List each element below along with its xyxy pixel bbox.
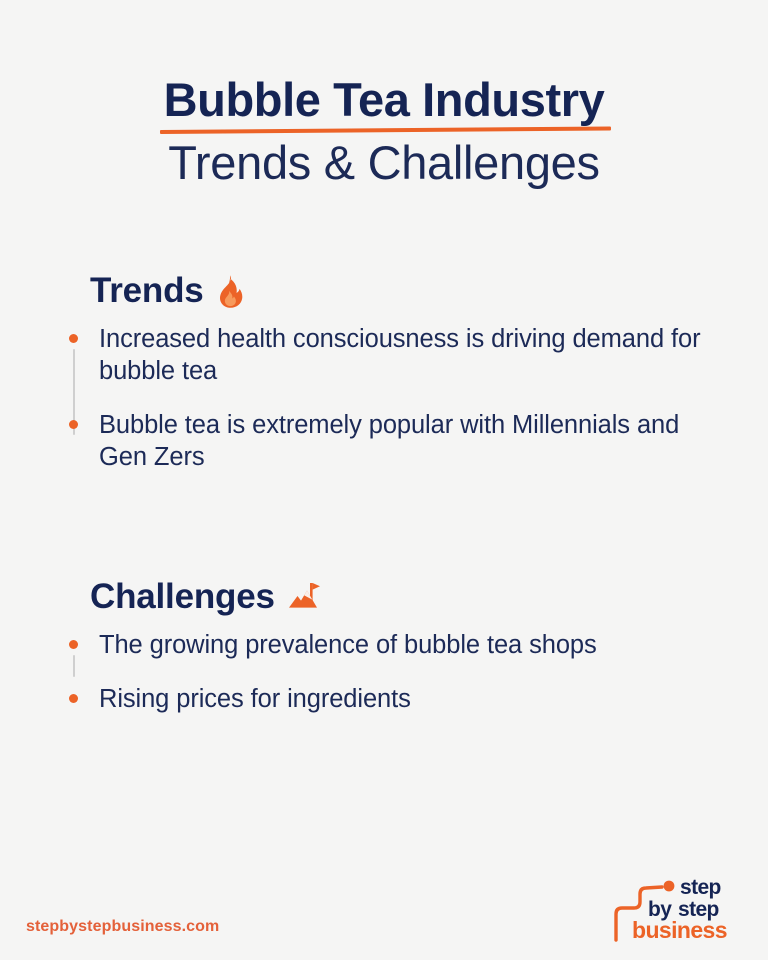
footer-website-url[interactable]: stepbystepbusiness.com — [26, 918, 219, 936]
trends-bullet-list: Increased health consciousness is drivin… — [62, 323, 702, 474]
section-trends: Trends Increased health consciousness is… — [62, 272, 702, 473]
list-item: The growing prevalence of bubble tea sho… — [62, 629, 702, 661]
bullet-dot-icon — [69, 640, 78, 649]
section-challenges-title: Challenges — [90, 578, 275, 617]
bullet-text: Increased health consciousness is drivin… — [99, 323, 702, 387]
bullet-dot-icon — [69, 334, 78, 343]
section-challenges-heading: Challenges — [90, 578, 702, 617]
list-item: Bubble tea is extremely popular with Mil… — [62, 409, 702, 473]
title-primary-wrap: Bubble Tea Industry — [162, 76, 607, 123]
challenges-bullet-list: The growing prevalence of bubble tea sho… — [62, 629, 702, 715]
svg-text:step: step — [680, 876, 721, 899]
infographic-poster: Bubble Tea Industry Trends & Challenges … — [0, 0, 768, 960]
section-challenges: Challenges The growing prevalence of bub… — [62, 578, 702, 715]
fire-icon — [215, 274, 245, 308]
bullet-dot-icon — [69, 420, 78, 429]
bullet-text: Bubble tea is extremely popular with Mil… — [99, 409, 702, 473]
title-underline-rule — [160, 126, 611, 134]
bullet-text: The growing prevalence of bubble tea sho… — [99, 629, 702, 661]
svg-text:business: business — [632, 917, 727, 942]
section-trends-heading: Trends — [90, 272, 702, 311]
bullet-dot-icon — [69, 694, 78, 703]
mountain-flag-icon — [286, 580, 320, 614]
title-primary: Bubble Tea Industry — [164, 76, 605, 123]
brand-logo[interactable]: step by step business — [606, 870, 746, 942]
list-item: Increased health consciousness is drivin… — [62, 323, 702, 387]
bullet-text: Rising prices for ingredients — [99, 683, 702, 715]
title-secondary: Trends & Challenges — [0, 138, 768, 187]
section-trends-title: Trends — [90, 272, 204, 311]
list-item: Rising prices for ingredients — [62, 683, 702, 715]
page-title: Bubble Tea Industry Trends & Challenges — [0, 76, 768, 187]
